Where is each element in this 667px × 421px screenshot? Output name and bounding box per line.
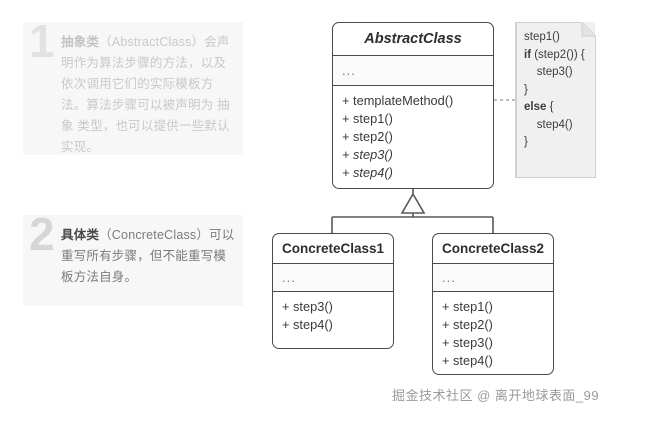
abstractclass-operations: + templateMethod()+ step1()+ step2()+ st…: [333, 86, 493, 188]
uml-operation: + step2(): [442, 316, 553, 334]
concreteclass2-title: ConcreteClass2: [433, 234, 553, 264]
note-code-line: else {: [524, 99, 585, 117]
uml-operation: + step3(): [442, 334, 553, 352]
abstractclass-title: AbstractClass: [333, 23, 493, 56]
concreteclass1-title: ConcreteClass1: [273, 234, 393, 264]
concreteclass1-attributes: ...: [273, 264, 393, 292]
uml-operation: + step3(): [342, 146, 493, 164]
note-code-line: step3(): [524, 64, 585, 82]
concreteclass2-operations: + step1()+ step2()+ step3()+ step4(): [433, 292, 553, 375]
uml-operation: + templateMethod(): [342, 92, 493, 110]
diagram-canvas: 1 抽象类（AbstractClass）会声明作为算法步骤的方法，以及依次调用它…: [0, 0, 667, 421]
uml-operation: + step1(): [442, 298, 553, 316]
uml-class-abstractclass[interactable]: AbstractClass ... + templateMethod()+ st…: [332, 22, 494, 189]
note-code-line: }: [524, 134, 585, 152]
uml-code-note: step1()if (step2()) { step3()}else { ste…: [515, 22, 595, 178]
note-code-line: }: [524, 82, 585, 100]
note-code-line: step1(): [524, 29, 585, 47]
uml-operation: + step4(): [442, 352, 553, 370]
note-code-line: if (step2()) {: [524, 47, 585, 65]
watermark-text: 掘金技术社区 @ 离开地球表面_99: [392, 385, 599, 404]
concreteclass2-attributes: ...: [433, 264, 553, 292]
abstractclass-attributes: ...: [333, 56, 493, 86]
uml-operation: + step1(): [342, 110, 493, 128]
uml-operation: + step4(): [342, 164, 493, 182]
uml-operation: + step3(): [282, 298, 393, 316]
note-code-line: step4(): [524, 117, 585, 135]
generalization-triangle-icon: [402, 194, 424, 213]
uml-operation: + step2(): [342, 128, 493, 146]
uml-class-concreteclass2[interactable]: ConcreteClass2 ... + step1()+ step2()+ s…: [432, 233, 554, 375]
note-code-text: step1()if (step2()) { step3()}else { ste…: [524, 29, 585, 152]
uml-operation: + step4(): [282, 316, 393, 334]
uml-class-concreteclass1[interactable]: ConcreteClass1 ... + step3()+ step4(): [272, 233, 394, 349]
concreteclass1-operations: + step3()+ step4(): [273, 292, 393, 340]
